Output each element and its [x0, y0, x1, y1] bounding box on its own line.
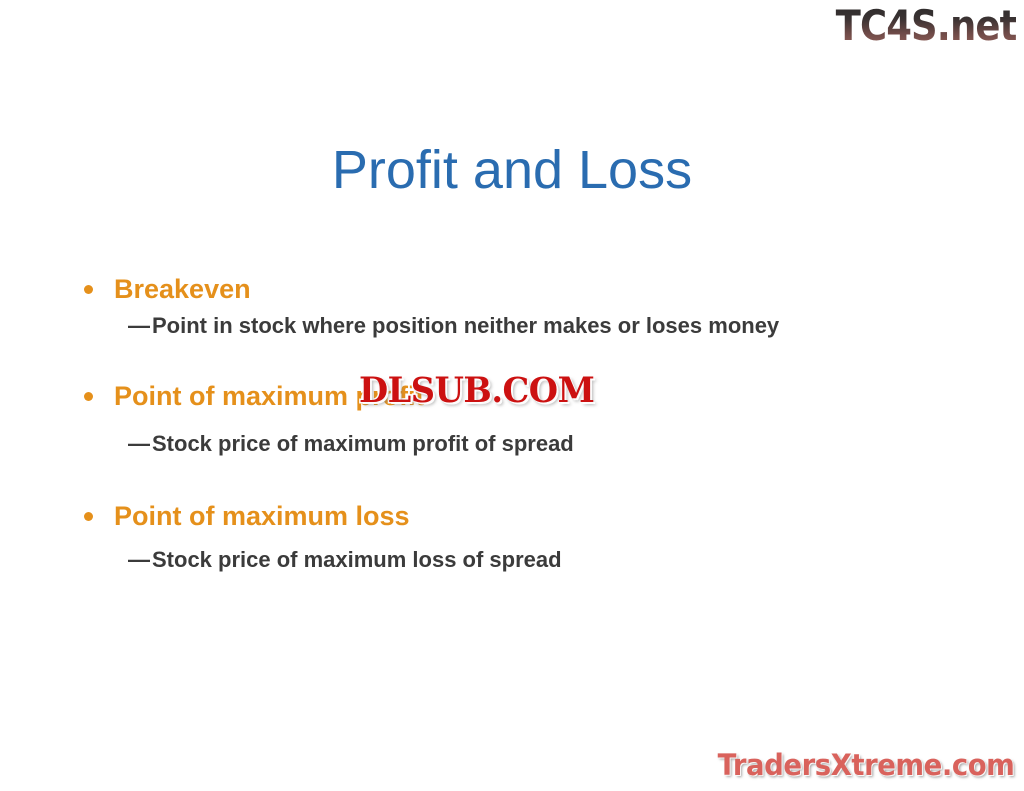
- page-title: Profit and Loss: [0, 139, 1024, 201]
- bullet-item-level2: — Point in stock where position neither …: [74, 311, 974, 341]
- slide-canvas: TC4S.net Profit and Loss Breakeven — Poi…: [0, 0, 1024, 791]
- bullet-item-level2: — Stock price of maximum profit of sprea…: [74, 429, 974, 459]
- dash-marker-icon: —: [128, 429, 150, 459]
- bullet-level1-label: Point of maximum loss: [114, 501, 410, 531]
- bullet-level2-label: Stock price of maximum loss of spread: [152, 547, 562, 572]
- dlsub-watermark: DLSUB.COM: [359, 370, 594, 412]
- bullet-group-max-loss: Point of maximum loss — Stock price of m…: [74, 499, 974, 575]
- dash-marker-icon: —: [128, 311, 150, 341]
- bullet-group-breakeven: Breakeven — Point in stock where positio…: [74, 272, 974, 341]
- bullet-dot-icon: [84, 285, 93, 294]
- bullet-item-level1: Breakeven: [74, 272, 974, 306]
- tc4s-brand-logo: TC4S.net: [835, 2, 1016, 50]
- bullet-dot-icon: [84, 512, 93, 521]
- tradersxtreme-footer-logo: TradersXtreme.com: [717, 747, 1014, 783]
- bullet-list: Breakeven — Point in stock where positio…: [74, 272, 974, 575]
- bullet-level2-label: Stock price of maximum profit of spread: [152, 431, 574, 456]
- bullet-item-level2: — Stock price of maximum loss of spread: [74, 545, 974, 575]
- bullet-level1-label: Breakeven: [114, 274, 251, 304]
- bullet-dot-icon: [84, 392, 93, 401]
- dash-marker-icon: —: [128, 545, 150, 575]
- bullet-level2-label: Point in stock where position neither ma…: [152, 313, 779, 338]
- bullet-item-level1: Point of maximum loss: [74, 499, 974, 533]
